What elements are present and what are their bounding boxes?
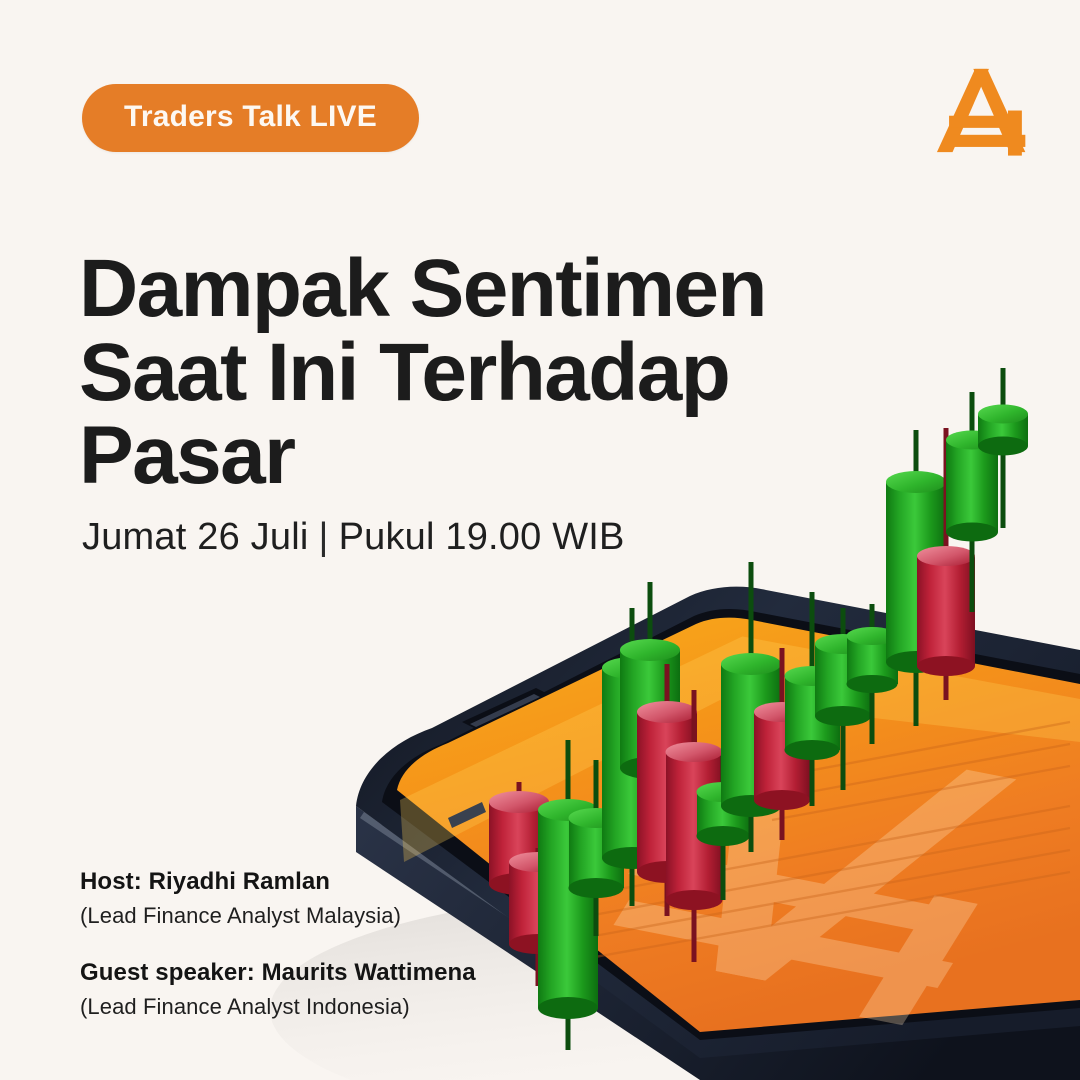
credit-guest: Guest speaker: Maurits Wattimena (Lead F…	[80, 957, 476, 1022]
page-title: Dampak Sentimen Saat Ini Terhadap Pasar	[79, 247, 799, 498]
event-schedule: Jumat 26 Juli|Pukul 19.00 WIB	[82, 516, 625, 559]
live-badge-label: Traders Talk LIVE	[124, 100, 377, 133]
live-badge: Traders Talk LIVE	[82, 84, 419, 152]
guest-role: (Lead Finance Analyst Indonesia)	[80, 992, 476, 1022]
event-time: Pukul 19.00 WIB	[339, 516, 625, 558]
speaker-credits: Host: Riyadhi Ramlan (Lead Finance Analy…	[80, 866, 476, 1048]
guest-name: Guest speaker: Maurits Wattimena	[80, 957, 476, 988]
host-name: Host: Riyadhi Ramlan	[80, 866, 476, 897]
headline-line-2: Saat Ini Terhadap	[79, 331, 799, 415]
schedule-separator: |	[308, 516, 338, 558]
event-date: Jumat 26 Juli	[82, 516, 308, 558]
credit-host: Host: Riyadhi Ramlan (Lead Finance Analy…	[80, 866, 476, 931]
headline-line-1: Dampak Sentimen	[79, 247, 799, 331]
host-role: (Lead Finance Analyst Malaysia)	[80, 901, 476, 931]
brand-a-logo-icon	[930, 62, 1034, 166]
poster-canvas: Traders Talk LIVE Dampak Sentimen Saat I…	[0, 0, 1080, 1080]
headline-line-3: Pasar	[79, 414, 799, 498]
